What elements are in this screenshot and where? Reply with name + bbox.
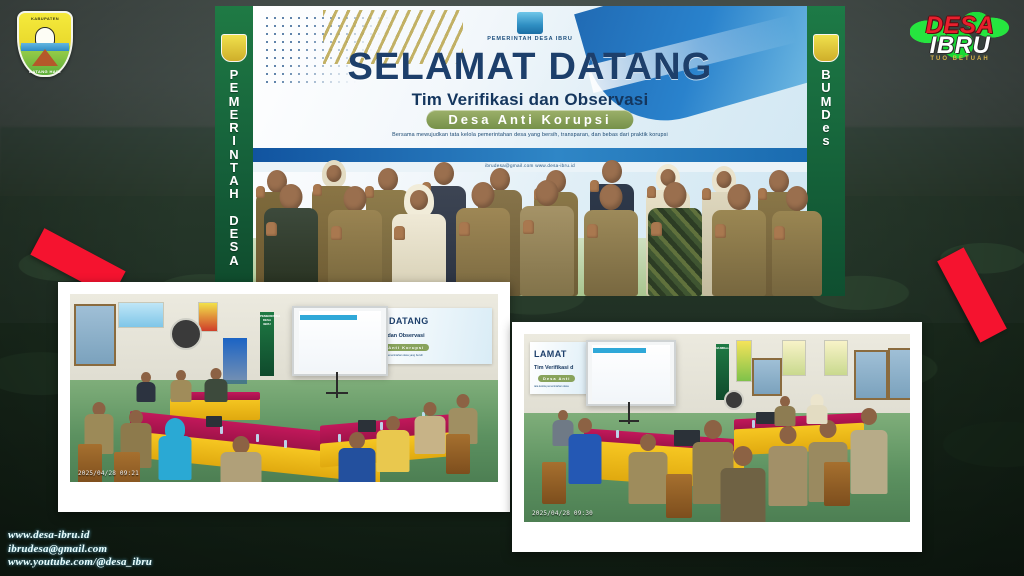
person-hand: [774, 226, 785, 240]
person-hand: [394, 226, 405, 240]
room-banner-line2: Tim Verifikasi d: [534, 365, 573, 371]
person-hand: [331, 226, 342, 240]
meeting-room-scene-2: LAMAT Tim Verifikasi d Desa Anti tata ke…: [524, 334, 910, 522]
meeting-room-scene: PEMERINTAH DESA IBRU AT DATANG ikasi dan…: [70, 294, 498, 482]
person: [376, 416, 410, 472]
banner-crest-icon: [221, 34, 247, 62]
person-body: [584, 210, 638, 296]
person: [711, 184, 767, 296]
person-hand: [266, 222, 277, 236]
person-body: [415, 416, 446, 454]
laptop: [206, 416, 222, 427]
person: [391, 184, 447, 296]
person: [568, 418, 602, 484]
person-body: [629, 452, 668, 504]
person-body: [769, 446, 808, 506]
emblem-hill-icon: [32, 49, 58, 66]
projector-screen: [292, 306, 388, 376]
contact-email[interactable]: ibrudesa@gmail.com: [8, 543, 152, 557]
slide-header-bar: [300, 315, 357, 320]
person: [220, 436, 262, 482]
person: [136, 372, 156, 402]
person-head: [457, 394, 470, 408]
person-head: [410, 190, 428, 210]
brand-tagline: TUO BETUAH: [908, 56, 1012, 62]
person-body: [775, 406, 796, 426]
chair: [824, 462, 850, 506]
person-body: [377, 430, 410, 472]
person-body: [807, 405, 828, 424]
person: [204, 368, 228, 402]
person: [414, 402, 446, 454]
person-head: [664, 182, 687, 208]
group-photo-crowd: [215, 106, 845, 296]
photo-card-right-image: LAMAT Tim Verifikasi d Desa Anti tata ke…: [524, 334, 910, 522]
chair: [542, 462, 566, 504]
person-head: [536, 180, 559, 206]
brand-line-ibru: IBRU: [908, 34, 1012, 58]
person-head: [349, 432, 365, 449]
person-body: [712, 210, 766, 296]
person-body: [721, 468, 766, 522]
person-head: [327, 165, 342, 182]
photo-card-left-image: PEMERINTAH DESA IBRU AT DATANG ikasi dan…: [70, 294, 498, 482]
water-bottle: [284, 440, 287, 448]
person: [768, 426, 808, 506]
person: [850, 408, 888, 494]
banner-crest-icon-right: [813, 34, 839, 62]
person-head: [704, 420, 722, 439]
room-window: [854, 350, 888, 400]
room-banner-line3: Desa Anti: [538, 375, 575, 382]
person: [455, 182, 511, 296]
photo-timestamp: 2025/04/28 09:21: [78, 470, 139, 477]
room-window: [74, 304, 116, 366]
person: [263, 184, 319, 296]
room-banner-line4: tata kelola pemerintahan desa: [534, 385, 569, 388]
person-hand: [587, 224, 598, 238]
screen-tripod-leg: [326, 392, 348, 394]
person: [158, 418, 192, 480]
person-body: [339, 448, 376, 482]
room-window: [752, 358, 782, 396]
contact-block: www.desa-ibru.id ibrudesa@gmail.com www.…: [8, 529, 152, 570]
person: [170, 370, 192, 402]
slide-header-bar: [593, 348, 646, 353]
person-head: [640, 434, 656, 451]
chair: [666, 474, 692, 518]
regency-emblem-icon: KABUPATEN BATANG HARI: [17, 11, 73, 77]
screen-tripod-leg: [619, 420, 639, 422]
chair: [446, 434, 470, 474]
person-hand: [651, 222, 662, 236]
person: [519, 180, 575, 296]
room-green-post-label: PEMERINTAH DESA IBRU: [260, 312, 274, 326]
person-head: [386, 416, 400, 431]
person-head: [734, 446, 753, 466]
water-bottle: [220, 426, 223, 434]
wall-fan-icon: [724, 390, 744, 410]
person-hand: [702, 188, 711, 200]
person: [327, 186, 383, 296]
person: [771, 186, 823, 296]
person-body: [137, 382, 156, 402]
poster-canvas: KABUPATEN BATANG HARI DESA IBRU TUO BETU…: [0, 0, 1024, 576]
water-bottle: [616, 430, 619, 438]
person: [338, 432, 376, 482]
person-head: [344, 186, 367, 212]
person-body: [221, 452, 262, 482]
backdrop-kop: PEMERINTAH DESA IBRU: [487, 36, 573, 42]
person-head: [861, 408, 877, 425]
person-head: [600, 184, 623, 210]
desa-ibru-logo: DESA IBRU TUO BETUAH: [908, 8, 1012, 70]
emblem-arc-top: KABUPATEN: [17, 16, 73, 21]
person: [628, 434, 668, 504]
person: [774, 396, 796, 426]
contact-youtube[interactable]: www.youtube.com/@desa_ibru: [8, 556, 152, 570]
contact-website[interactable]: www.desa-ibru.id: [8, 529, 152, 543]
projector-screen: [586, 340, 676, 406]
person-head: [472, 182, 495, 208]
person: [806, 394, 828, 424]
photo-group-main: PEMERI NTAH DESA BUMDes PEMERINTAH DESA …: [215, 6, 845, 296]
person: [583, 184, 639, 296]
person-hand: [523, 220, 534, 234]
room-green-post: PEMERINTAH DESA IBRU: [260, 312, 274, 376]
person-head: [280, 184, 303, 210]
person-head: [786, 186, 808, 211]
room-green-post-label: BUMDes: [716, 344, 729, 351]
person-hand: [459, 222, 470, 236]
screen-tripod: [336, 372, 338, 398]
photo-timestamp: 2025/04/28 09:30: [532, 510, 593, 517]
laptop: [358, 420, 376, 432]
person-head: [434, 162, 454, 185]
person-body: [171, 380, 192, 402]
laptop: [756, 412, 776, 424]
room-poster: [736, 340, 752, 382]
projected-slide: [592, 345, 669, 401]
person: [647, 182, 703, 296]
person-body: [159, 436, 192, 480]
person-body: [772, 211, 822, 296]
person-body: [851, 430, 888, 494]
projected-slide: [299, 311, 382, 370]
person-head: [424, 402, 437, 416]
backdrop-logo-icon: [517, 12, 543, 34]
person-head: [728, 184, 751, 210]
person-body: [569, 434, 602, 484]
person: [720, 446, 766, 522]
person-head: [780, 426, 797, 444]
person-hand: [715, 224, 726, 238]
water-bottle: [752, 420, 755, 428]
room-banner-line1: LAMAT: [534, 349, 567, 359]
person-body: [205, 379, 228, 402]
room-backdrop-banner: AT DATANG ikasi dan Observasi a Anti Kor…: [370, 308, 492, 364]
person-head: [602, 160, 622, 183]
photo-card-left[interactable]: PEMERINTAH DESA IBRU AT DATANG ikasi dan…: [58, 282, 510, 512]
room-window: [888, 348, 910, 400]
photo-card-right[interactable]: LAMAT Tim Verifikasi d Desa Anti tata ke…: [512, 322, 922, 552]
wall-fan-icon: [170, 318, 202, 350]
backdrop-title: SELAMAT DATANG: [253, 48, 807, 86]
person-head: [578, 418, 592, 433]
emblem-arc-bottom: BATANG HARI: [17, 69, 73, 74]
room-poster: [782, 340, 806, 376]
chair: [114, 452, 140, 482]
room-poster: [824, 340, 848, 376]
room-poster: [118, 302, 164, 328]
